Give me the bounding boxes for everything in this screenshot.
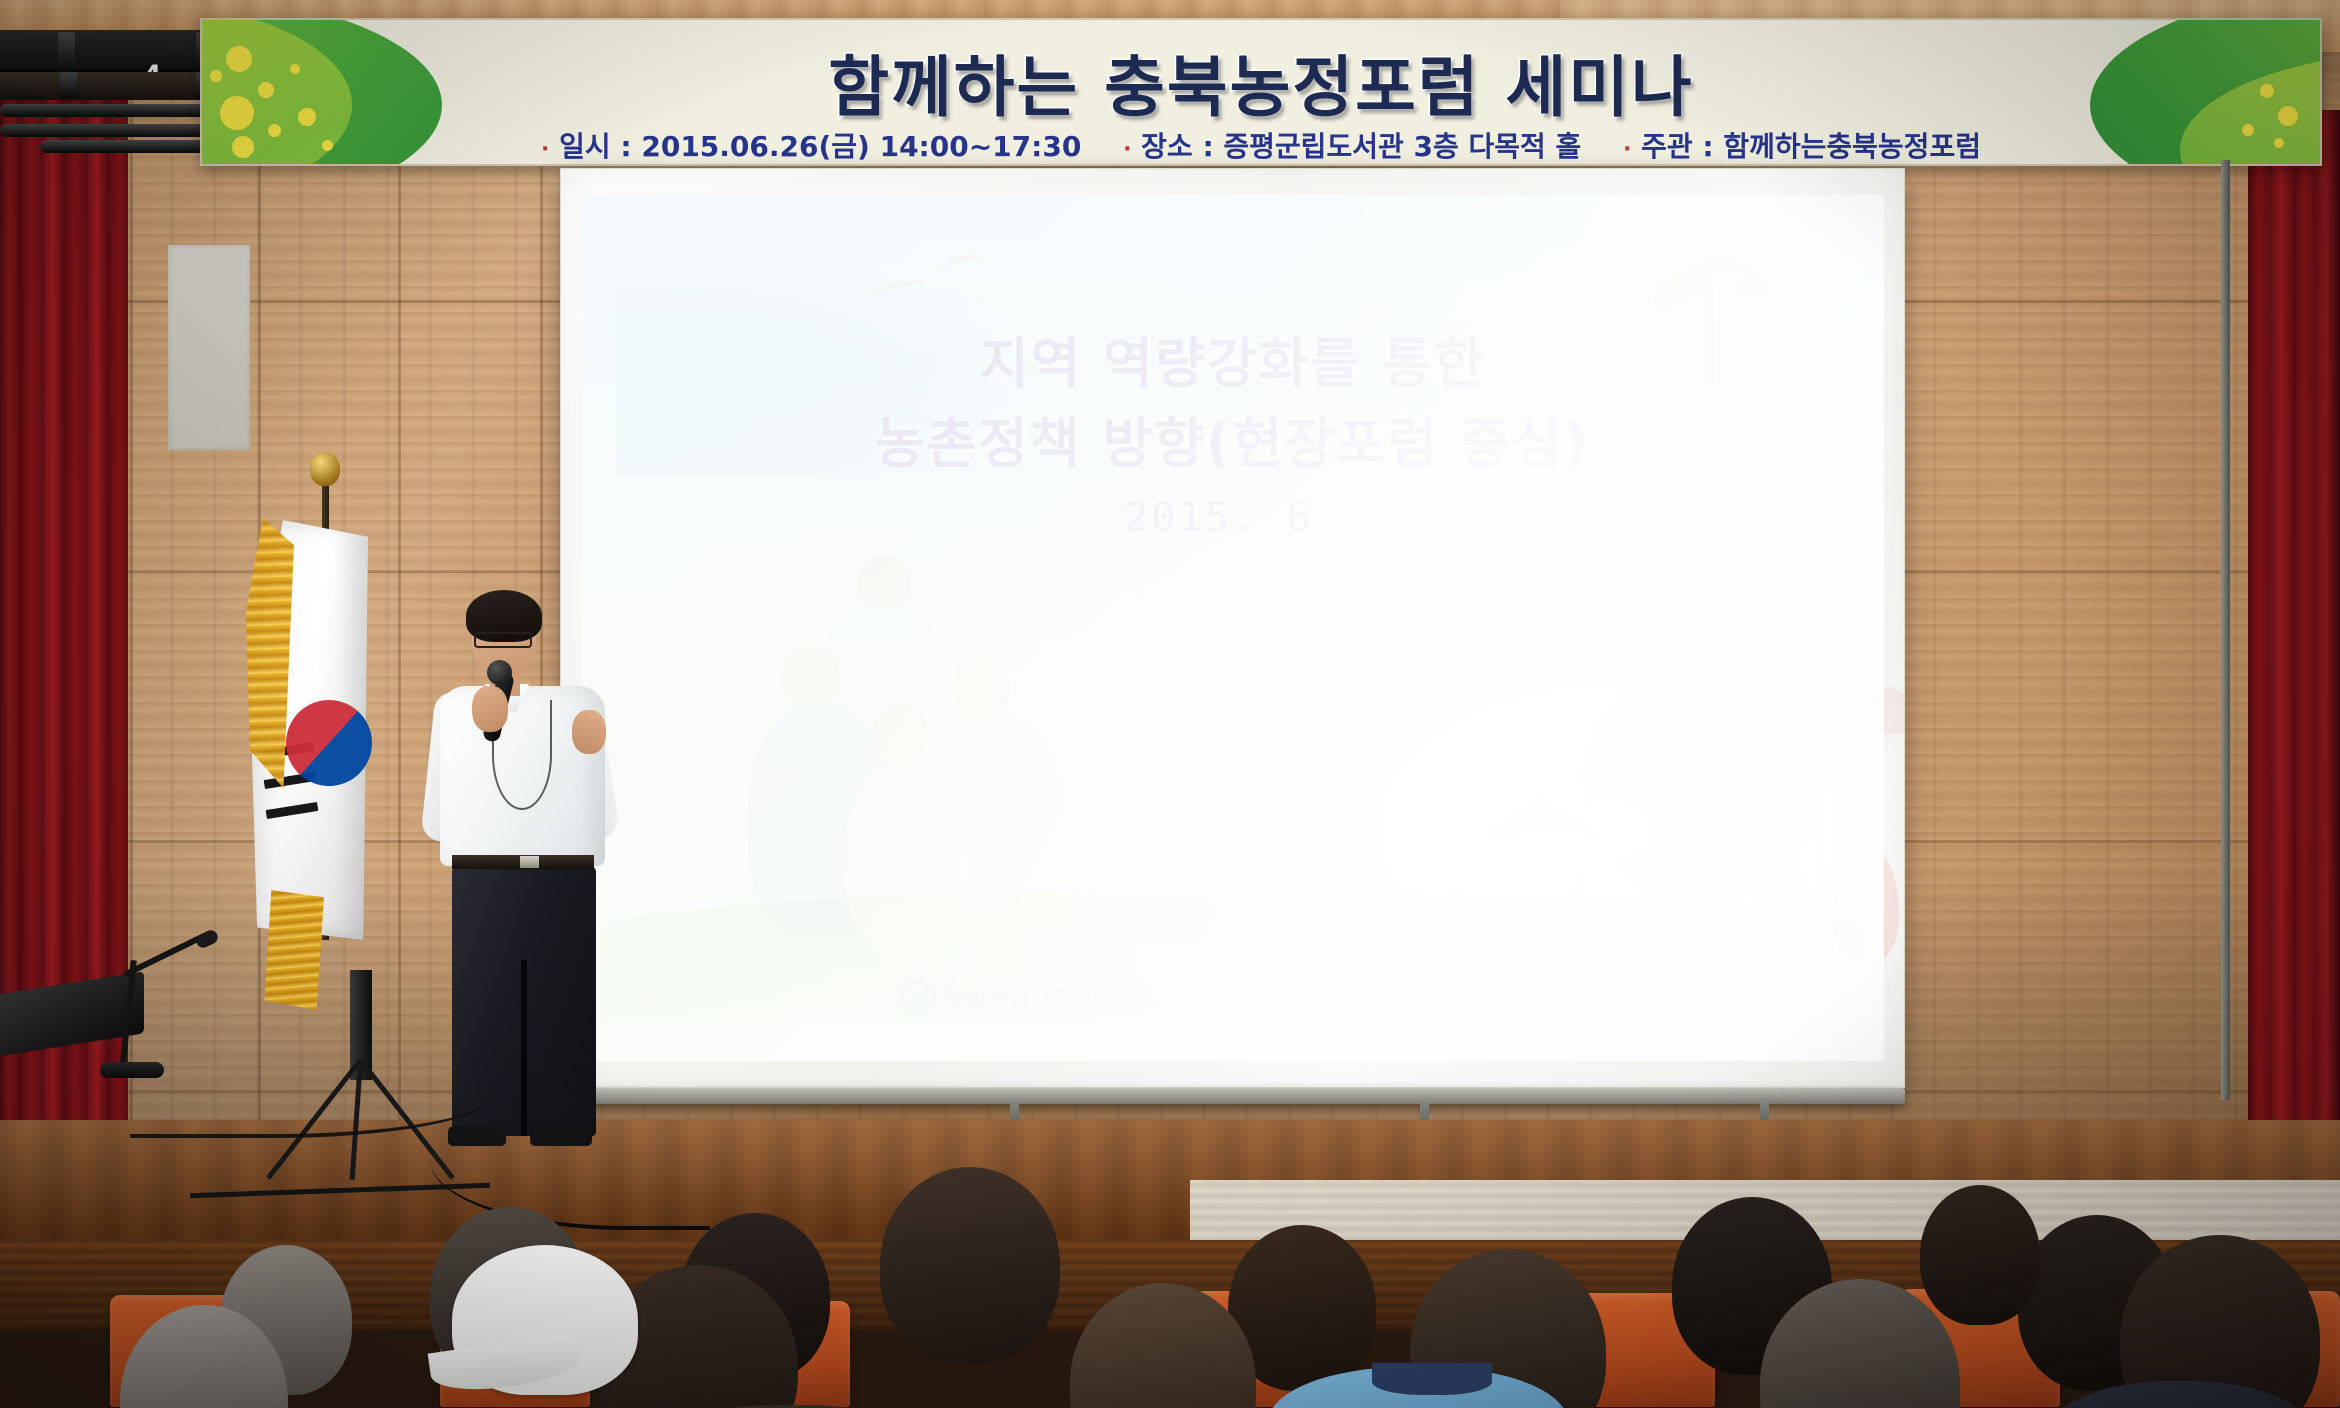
eyeglasses-icon <box>474 632 532 648</box>
banner-info-0-value: 2015.06.26(금) 14:00~17:30 <box>641 130 1081 163</box>
photo-scene: 4 함께하는 충북농정포럼 세미나 · 일시 : 2015.06.26(금) 1… <box>0 0 2340 1408</box>
banner-subtitle: · 일시 : 2015.06.26(금) 14:00~17:30 · 장소 : … <box>202 125 2320 165</box>
slide-title-line1: 지역 역량강화를 통한 <box>581 319 1884 398</box>
event-banner: 함께하는 충북농정포럼 세미나 · 일시 : 2015.06.26(금) 14:… <box>200 18 2322 166</box>
slide-title-line2: 농촌정책 방향(현장포럼 중심) <box>581 399 1884 478</box>
presenter-left-hand <box>472 686 508 732</box>
slide-logo-text: 농림축산식품부 <box>946 982 1095 1014</box>
audience-head <box>1920 1185 2040 1325</box>
slide-family-photo <box>746 555 1146 975</box>
banner-bullet-icon-2: · <box>1123 137 1131 162</box>
banner-info-2-value: 함께하는충북농정포럼 <box>1723 130 1981 163</box>
banner-info-0-label: 일시 <box>559 130 611 163</box>
presenter-belt-buckle <box>520 856 539 868</box>
banner-title: 함께하는 충북농정포럼 세미나 <box>202 34 2320 130</box>
slide-ribbon-graphic <box>1761 845 1905 975</box>
banner-info-1-value: 증평군립도서관 3층 다목적 홀 <box>1223 130 1581 163</box>
banner-bullet-icon-3: · <box>1623 137 1631 162</box>
audience-area <box>0 1255 2340 1408</box>
stage-curtain-right <box>2248 110 2340 1140</box>
banner-info-2-label: 주관 <box>1641 130 1693 163</box>
banner-bullet-icon: · <box>541 137 549 162</box>
screen-bottom-bar <box>560 1088 1905 1104</box>
presenter-right-hand <box>572 710 606 754</box>
slide-logo: ◈ 농림축산식품부 <box>901 981 1095 1015</box>
leaf-mark-icon: ◈ <box>901 981 935 1015</box>
projection-screen: 지역 역량강화를 통한 농촌정책 방향(현장포럼 중심) 2015. 6. ◈ … <box>560 168 1905 1088</box>
wall-access-plate <box>168 245 250 450</box>
presenter-trouser-seam <box>521 960 527 1136</box>
audience-head <box>880 1167 1060 1363</box>
banner-info-1-label: 장소 <box>1141 130 1193 163</box>
audience-collar <box>1372 1363 1492 1395</box>
flag-finial-icon <box>310 452 340 486</box>
screen-side-pole <box>2221 160 2230 1100</box>
slide-date: 2015. 6. <box>581 495 1884 541</box>
microphone-head-icon <box>487 660 512 685</box>
presentation-slide: 지역 역량강화를 통한 농촌정책 방향(현장포럼 중심) 2015. 6. ◈ … <box>581 195 1884 1061</box>
